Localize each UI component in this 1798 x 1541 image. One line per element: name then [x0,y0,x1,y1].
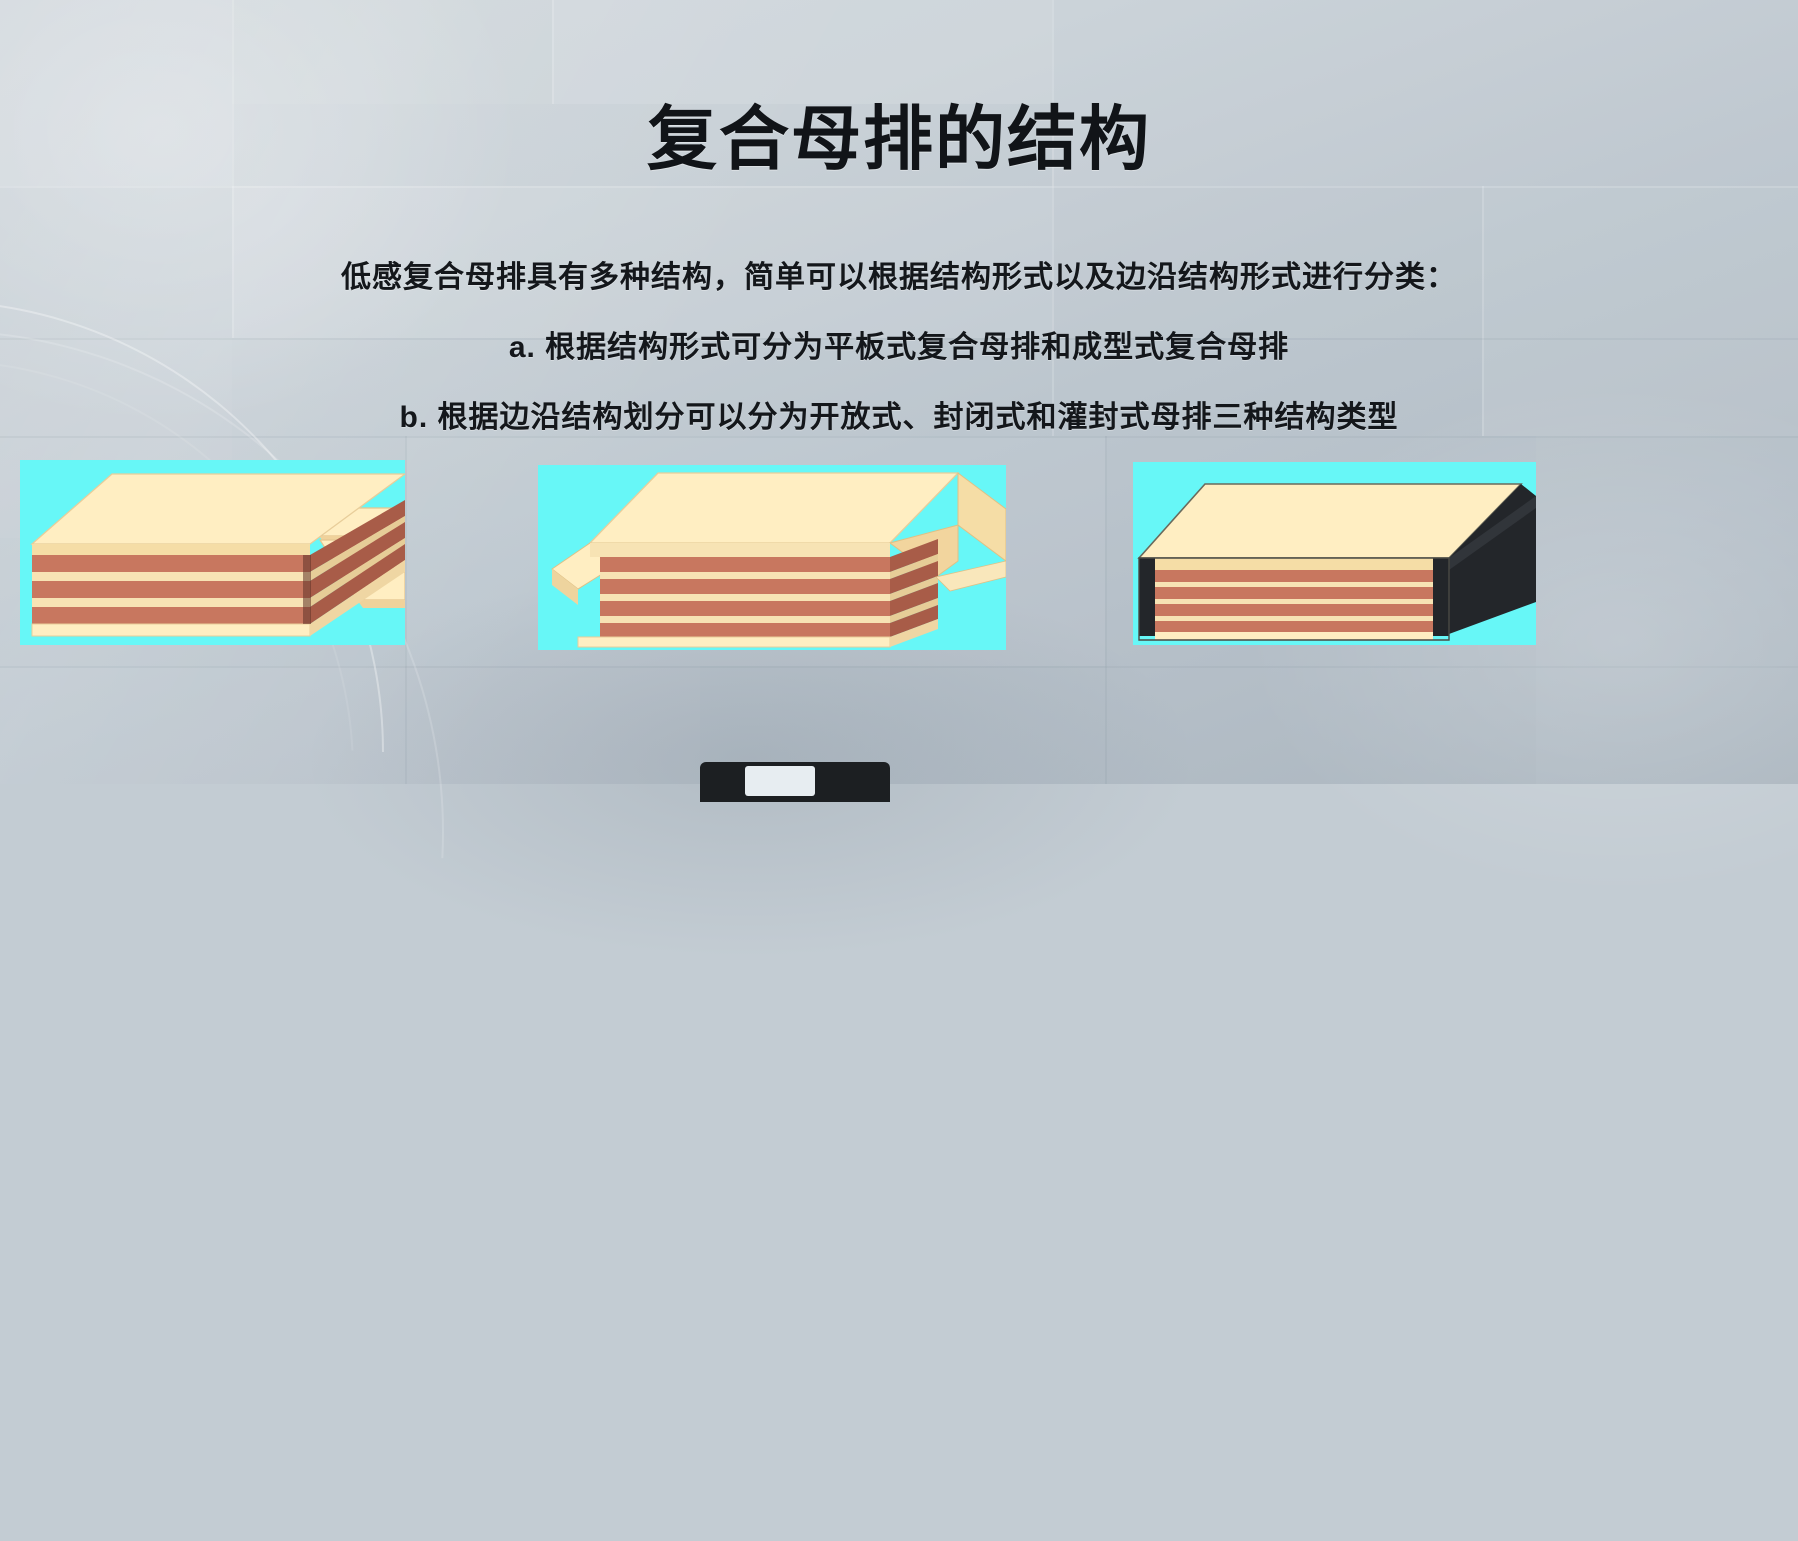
background-seam [0,186,1798,188]
insulation-interlayer [600,572,890,579]
insulation-wrap-bottom [578,637,890,647]
insulation-wrap-front [590,543,890,557]
conductor-layer [1155,604,1433,616]
background-tile [552,0,1052,104]
insulation-wrap-right-flap [958,473,1006,561]
background-arc [0,113,571,1391]
conductor-layer [32,555,310,572]
insulation-interlayer [600,616,890,623]
background-seam [0,436,1798,438]
conductor-layer [1155,570,1433,582]
insulation-top-front-edge [32,544,310,555]
background-seam [552,0,554,104]
background-seam [405,436,407,784]
insulation-interlayer [1155,599,1433,604]
background-seam [0,666,1798,668]
background-tile [0,666,700,784]
figure-open-type-busbar [20,460,405,645]
background-tile [232,0,552,104]
figure-closed-type-busbar [538,465,1006,650]
conductor-layer [32,607,310,624]
conductor-layer [32,581,310,598]
encapsulation-right-cap [1433,558,1449,636]
body-line-b: b. 根据边沿结构划分可以分为开放式、封闭式和灌封式母排三种结构类型 [0,392,1798,436]
background-glow [0,0,540,440]
conductor-layer [600,601,890,616]
conductor-layer [600,579,890,594]
body-line-a: a. 根据结构形式可分为平板式复合母排和成型式复合母排 [0,322,1798,366]
conductor-layer [600,623,890,637]
bottom-partial-shape-inner [745,766,815,796]
insulation-top-front-edge [1139,558,1449,570]
open-type-busbar-illustration [20,460,405,645]
body-line-intro: 低感复合母排具有多种结构，简单可以根据结构形式以及边沿结构形式进行分类： [0,252,1798,296]
open-edge-shadow [303,555,311,624]
insulation-wrap-top [590,473,958,543]
insulation-interlayer [1155,616,1433,621]
insulation-bottom-face [1155,632,1433,640]
encapsulation-left-cap [1139,558,1155,636]
insulation-bottom-face [32,624,310,636]
page-title: 复合母排的结构 [0,104,1798,174]
background-seam [1052,0,1054,436]
insulation-interlayer [1155,582,1433,587]
insulation-interlayer [32,598,310,607]
insulation-interlayer [600,594,890,601]
closed-type-busbar-illustration [538,465,1006,650]
insulation-sheet-loose-edge [357,600,405,608]
background-tile [1536,436,1798,784]
background-seam [1105,436,1107,784]
conductor-layer [1155,587,1433,599]
conductor-layer [600,557,890,572]
figure-potted-type-busbar [1133,462,1536,645]
potted-type-busbar-illustration [1133,462,1536,645]
insulation-interlayer [32,572,310,581]
conductor-layer [1155,621,1433,632]
